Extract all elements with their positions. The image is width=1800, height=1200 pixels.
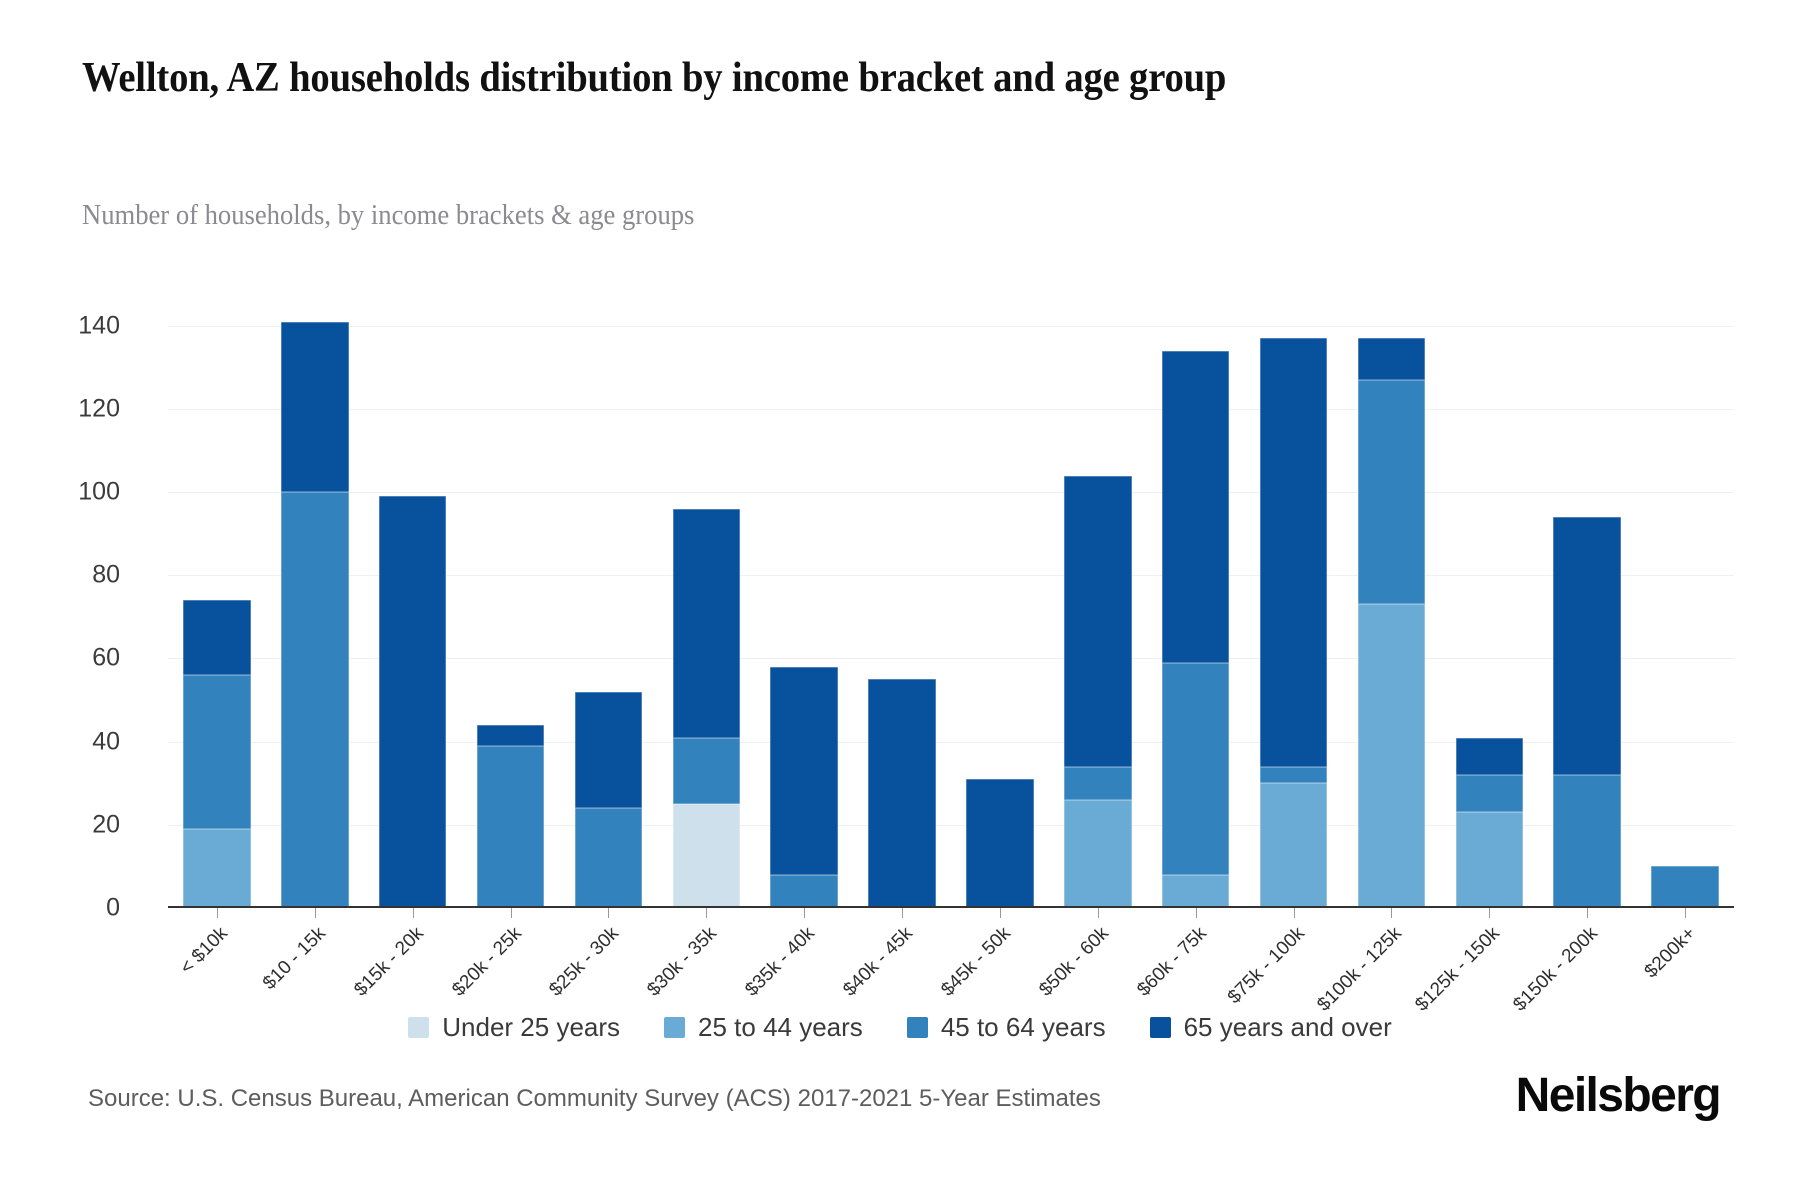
x-axis-tick [608,908,609,918]
legend-item[interactable]: Under 25 years [408,1012,620,1043]
x-axis-tick [413,908,414,918]
chart-legend: Under 25 years25 to 44 years45 to 64 yea… [0,1012,1800,1043]
plot-area: 020406080100120140 < $10k$10 - 15k$15k -… [168,305,1734,908]
x-axis-tick [1489,908,1490,918]
page-title: Wellton, AZ households distribution by i… [82,52,1480,106]
x-axis-tick-label: $10 - 15k [259,923,331,995]
x-axis-tick-label: < $10k [176,923,232,979]
source-note: Source: U.S. Census Bureau, American Com… [88,1085,1101,1113]
x-axis-tick [902,908,903,918]
x-axis-tick [804,908,805,918]
x-axis-tick-label: $20k - 25k [448,923,526,1001]
x-axis-tick-label: $125k - 150k [1412,923,1505,1016]
legend-label: 65 years and over [1184,1012,1392,1043]
x-axis-tick [1685,908,1686,918]
y-axis-tick-label: 40 [0,727,120,756]
legend-label: Under 25 years [442,1012,620,1043]
neilsberg-logo: Neilsberg [1516,1068,1720,1123]
legend-swatch [664,1017,685,1038]
y-axis-tick-label: 100 [0,478,120,507]
x-axis-tick [1196,908,1197,918]
legend-swatch [1150,1017,1171,1038]
x-axis-tick-label: $150k - 200k [1510,923,1603,1016]
legend-label: 25 to 44 years [698,1012,863,1043]
x-axis-tick-label: $25k - 30k [546,923,624,1001]
x-axis-tick [1098,908,1099,918]
y-axis-tick-label: 20 [0,810,120,839]
x-axis-tick-label: $60k - 75k [1133,923,1211,1001]
x-axis-tick-label: $35k - 40k [741,923,819,1001]
x-axis-tick [1391,908,1392,918]
x-axis-tick-label: $30k - 35k [644,923,722,1001]
x-axis-tick [1000,908,1001,918]
x-axis-tick-label: $50k - 60k [1035,923,1113,1001]
x-axis-tick [1587,908,1588,918]
legend-item[interactable]: 65 years and over [1150,1012,1392,1043]
y-axis-tick-label: 80 [0,561,120,590]
x-axis-tick-label: $40k - 45k [839,923,917,1001]
chart-subtitle: Number of households, by income brackets… [82,200,1412,232]
x-axis-tick-label: $200k+ [1641,923,1701,983]
y-axis-tick-label: 120 [0,394,120,423]
legend-swatch [408,1017,429,1038]
x-axis-tick-label: $100k - 125k [1314,923,1407,1016]
legend-item[interactable]: 25 to 44 years [664,1012,863,1043]
legend-swatch [907,1017,928,1038]
x-axis-line [168,906,1734,908]
x-axis-labels: < $10k$10 - 15k$15k - 20k$20k - 25k$25k … [168,305,1734,908]
y-axis-tick-label: 0 [0,894,120,923]
x-axis-tick [1294,908,1295,918]
x-axis-tick [217,908,218,918]
legend-item[interactable]: 45 to 64 years [907,1012,1106,1043]
legend-label: 45 to 64 years [941,1012,1106,1043]
y-axis-tick-label: 60 [0,644,120,673]
chart-page: Wellton, AZ households distribution by i… [0,0,1800,1200]
x-axis-tick [315,908,316,918]
x-axis-tick-label: $75k - 100k [1223,923,1309,1009]
x-axis-tick [706,908,707,918]
x-axis-tick-label: $45k - 50k [937,923,1015,1001]
x-axis-tick-label: $15k - 20k [350,923,428,1001]
y-axis-tick-label: 140 [0,311,120,340]
x-axis-tick [511,908,512,918]
